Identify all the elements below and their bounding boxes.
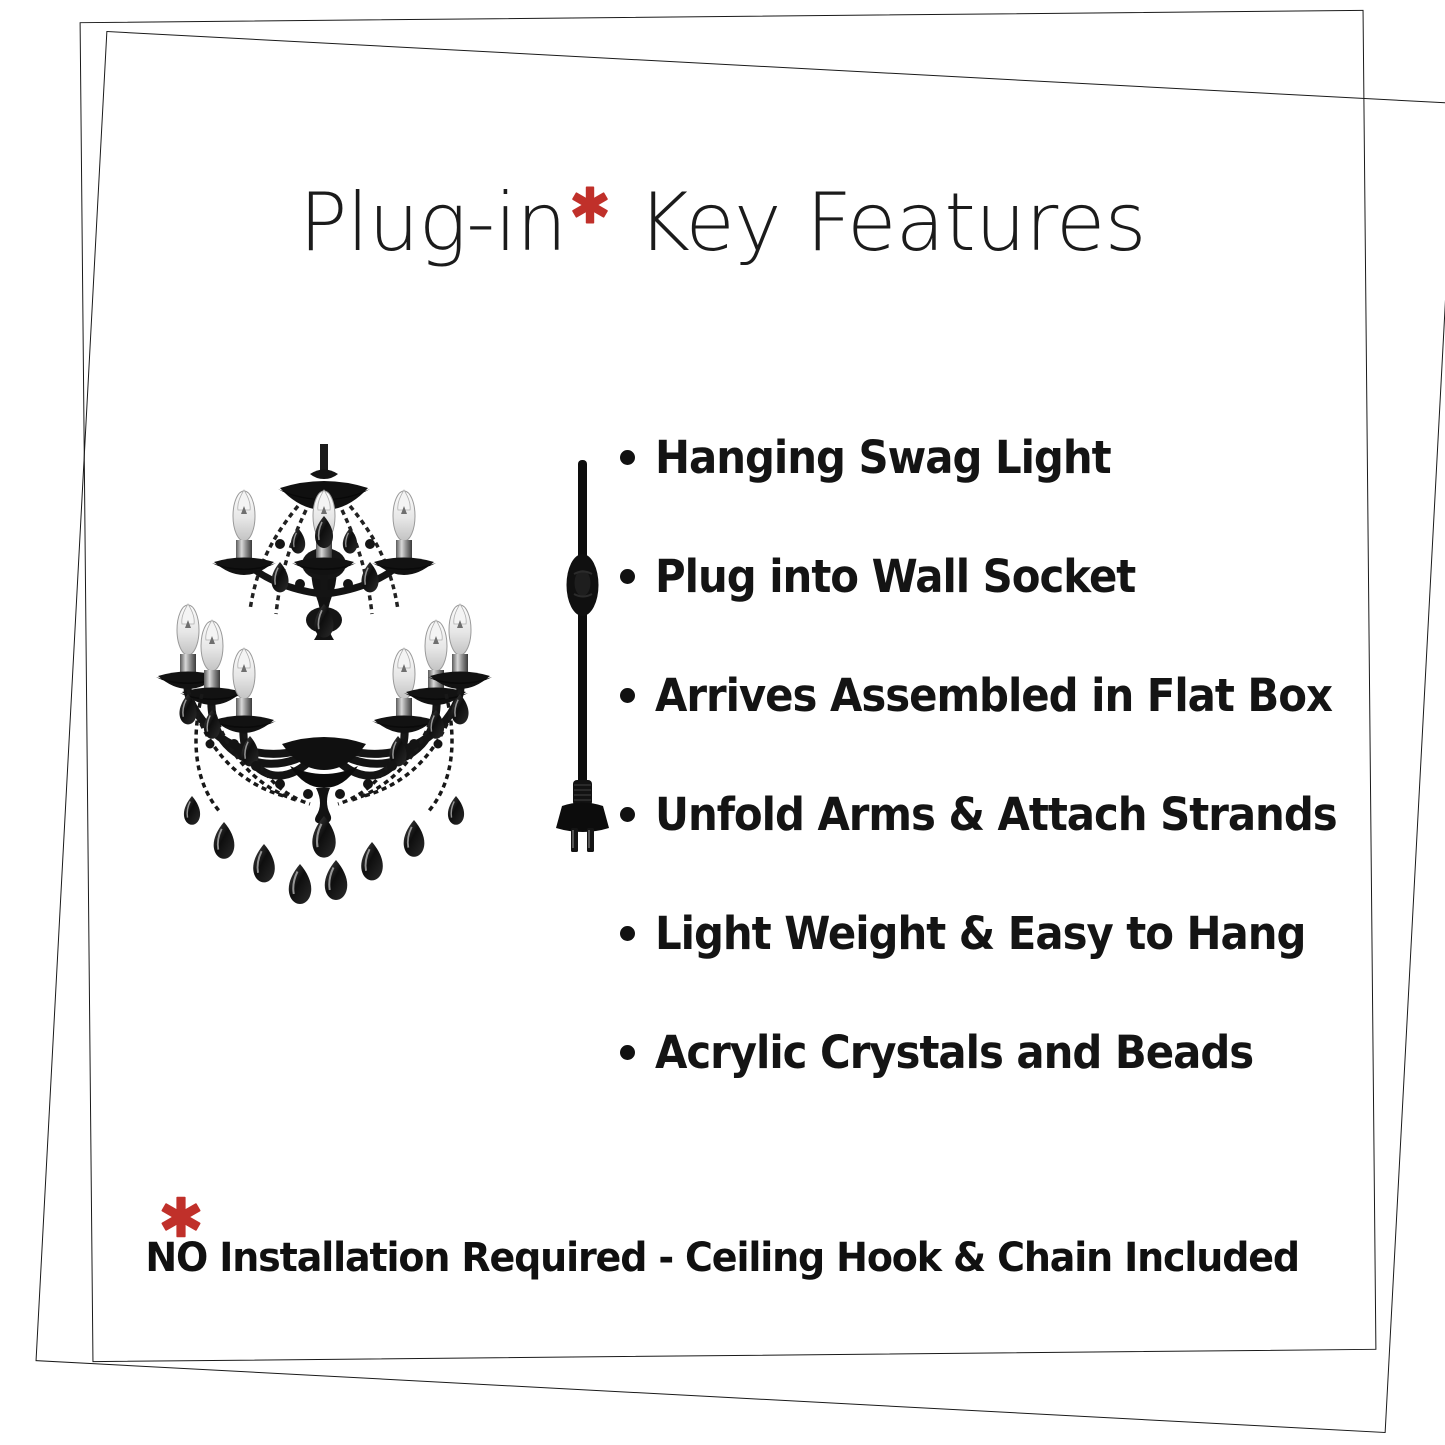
feature-label: Unfold Arms & Attach Strands xyxy=(655,792,1337,837)
footnote-text: NO Installation Required - Ceiling Hook … xyxy=(0,1235,1445,1281)
page-title: Plug-in Key Features xyxy=(0,176,1445,269)
feature-label: Arrives Assembled in Flat Box xyxy=(655,673,1332,718)
bullet-dot-icon xyxy=(620,807,635,822)
feature-label: Plug into Wall Socket xyxy=(655,554,1135,599)
product-image-power-cord xyxy=(540,450,630,860)
feature-label: Hanging Swag Light xyxy=(655,435,1111,480)
feature-label: Acrylic Crystals and Beads xyxy=(655,1030,1253,1075)
list-item: Arrives Assembled in Flat Box xyxy=(620,636,1380,755)
feature-list: Hanging Swag Light Plug into Wall Socket… xyxy=(620,398,1380,1112)
bullet-dot-icon xyxy=(620,450,635,465)
footnote-label: NO Installation Required - Ceiling Hook … xyxy=(146,1235,1300,1281)
list-item: Hanging Swag Light xyxy=(620,398,1380,517)
infographic-canvas: Plug-in Key Features xyxy=(0,0,1445,1445)
feature-label: Light Weight & Easy to Hang xyxy=(655,911,1305,956)
footnote-asterisk-icon xyxy=(158,1194,204,1240)
list-item: Plug into Wall Socket xyxy=(620,517,1380,636)
bullet-dot-icon xyxy=(620,688,635,703)
asterisk-icon xyxy=(569,184,611,226)
product-image-chandelier xyxy=(84,444,564,944)
title-prefix: Plug-in xyxy=(299,176,566,269)
list-item: Light Weight & Easy to Hang xyxy=(620,874,1380,993)
title-suffix: Key Features xyxy=(613,176,1146,269)
bullet-dot-icon xyxy=(620,1045,635,1060)
bullet-dot-icon xyxy=(620,569,635,584)
list-item: Acrylic Crystals and Beads xyxy=(620,993,1380,1112)
bullet-dot-icon xyxy=(620,926,635,941)
list-item: Unfold Arms & Attach Strands xyxy=(620,755,1380,874)
